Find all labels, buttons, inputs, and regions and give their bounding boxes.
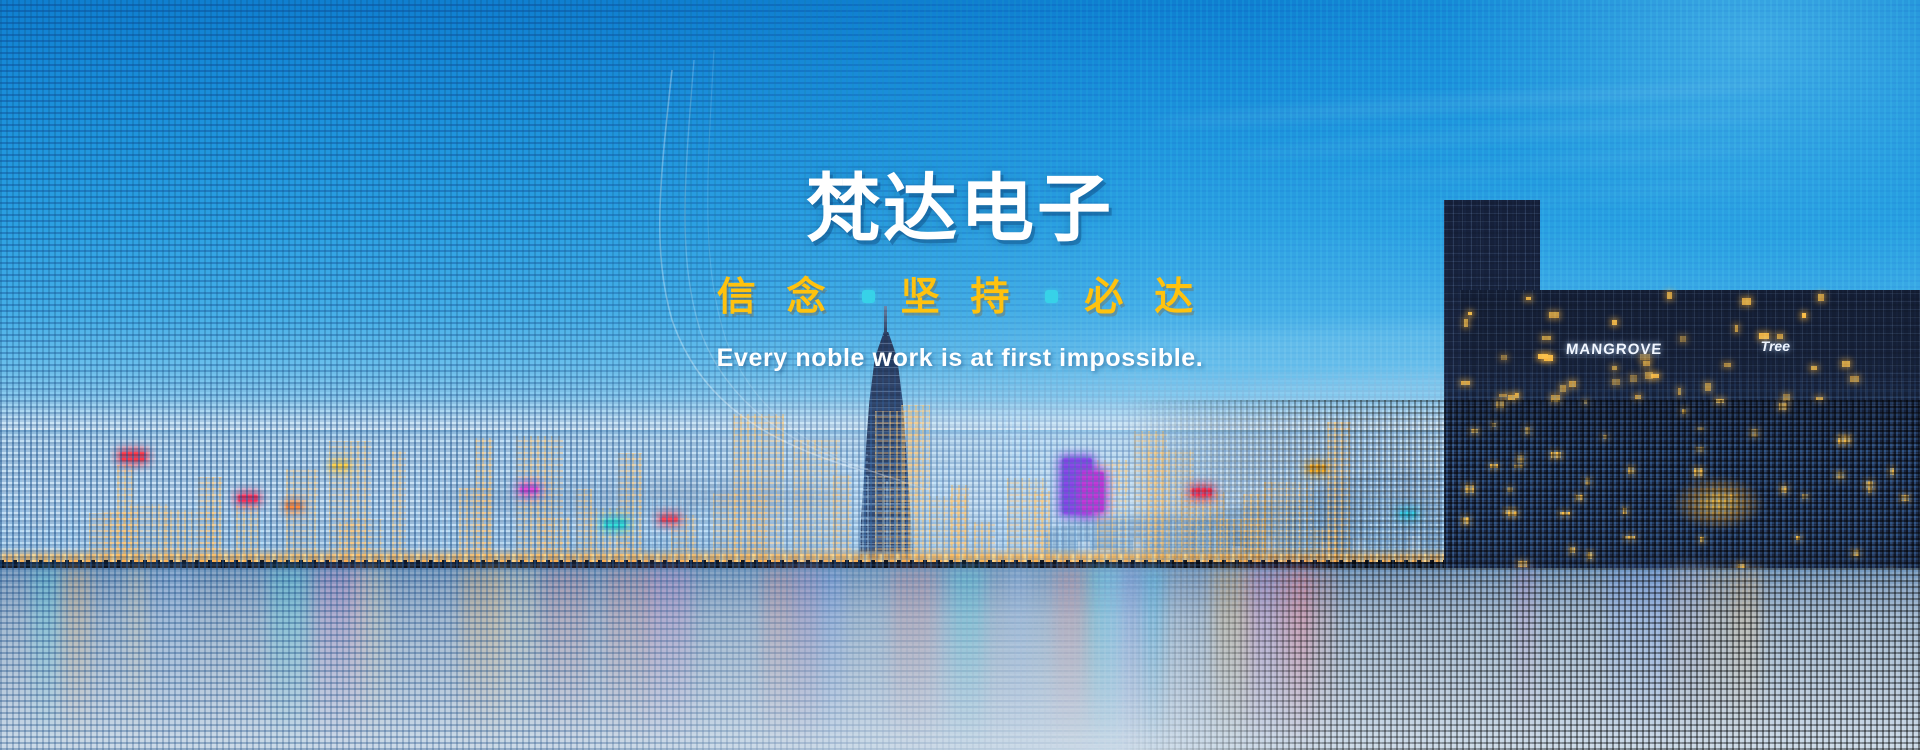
slogan-part-1: 信 念: [717, 266, 836, 322]
separator-dot-icon: [862, 290, 875, 303]
slogan-part-3: 必 达: [1084, 266, 1203, 322]
decorative-curves: [0, 0, 1920, 750]
page-title: 梵达电子: [0, 170, 1920, 248]
slogan-part-2: 坚 持: [901, 266, 1020, 322]
hero-copy: 梵达电子 信 念 坚 持 必 达 Every noble work is at …: [0, 170, 1920, 373]
separator-dot-icon: [1045, 290, 1058, 303]
tagline: Every noble work is at first impossible.: [0, 344, 1920, 373]
hero-banner: MANGROVE Tree 梵达电子 信 念 坚 持 必 达 Every nob…: [0, 0, 1920, 750]
slogan: 信 念 坚 持 必 达: [0, 266, 1920, 322]
